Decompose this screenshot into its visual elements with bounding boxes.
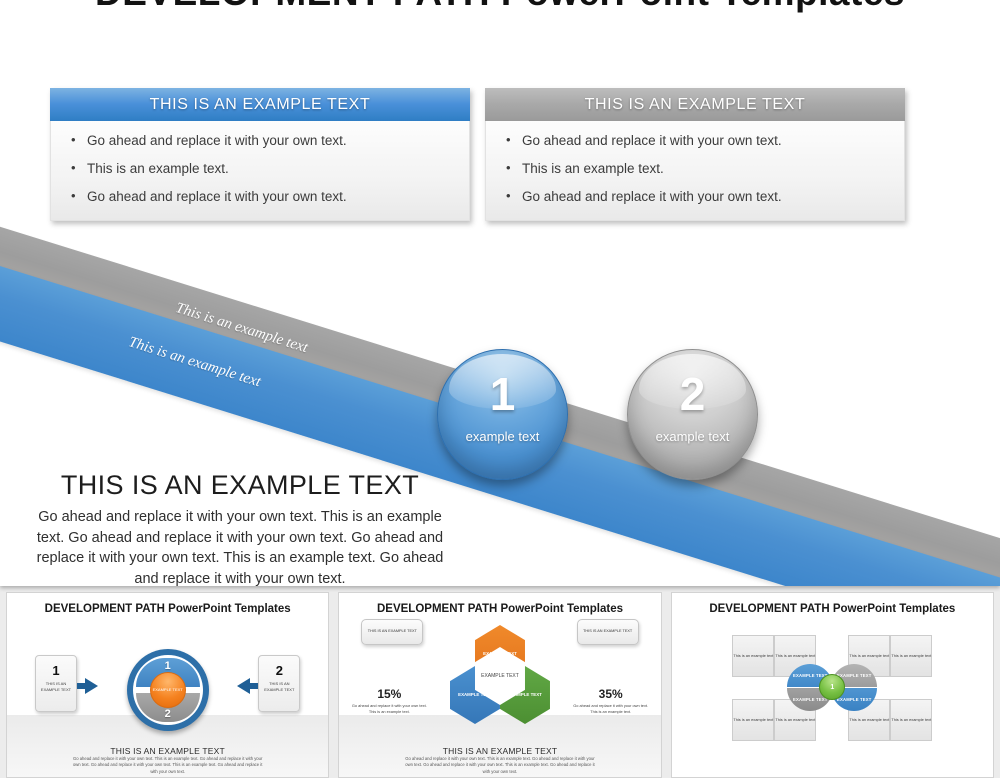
- thumbnail-3-box-4[interactable]: This is an example text: [890, 635, 932, 677]
- step-sphere-1-number: 1: [437, 367, 568, 421]
- step-sphere-1[interactable]: 1 example text: [437, 349, 568, 480]
- thumbnail-3-box-8[interactable]: This is an example text: [890, 699, 932, 741]
- step-sphere-2-number: 2: [627, 367, 758, 421]
- thumbnail-1-footer: THIS IS AN EXAMPLE TEXT Go ahead and rep…: [7, 746, 328, 775]
- percent-value: 35%: [573, 687, 649, 701]
- thumbnail-strip: DEVELOPMENT PATH PowerPoint Templates 1 …: [0, 592, 1000, 778]
- page-title: DEVELOPMENT PATH PowerPoint Templates: [0, 0, 1000, 14]
- thumbnail-2-title: DEVELOPMENT PATH PowerPoint Templates: [339, 603, 660, 615]
- thumbnail-slide-2[interactable]: DEVELOPMENT PATH PowerPoint Templates TH…: [338, 592, 661, 778]
- thumbnail-1-side-box-2-text: THIS IS AN EXAMPLE TEXT: [259, 681, 299, 693]
- thumbnail-2-callout-right[interactable]: THIS IS AN EXAMPLE TEXT: [577, 619, 639, 645]
- list-item: Go ahead and replace it with your own te…: [87, 189, 451, 206]
- thumbnail-3-title: DEVELOPMENT PATH PowerPoint Templates: [672, 603, 993, 615]
- thumbnail-2-hexagon-diagram[interactable]: EXAMPLE TEXT EXAMPLE TEXT EXAMPLE TEXT E…: [425, 623, 575, 733]
- list-item: Go ahead and replace it with your own te…: [522, 189, 886, 206]
- thumbnail-slide-3[interactable]: DEVELOPMENT PATH PowerPoint Templates Th…: [671, 592, 994, 778]
- example-text-box-right-header: THIS IS AN EXAMPLE TEXT: [485, 88, 905, 121]
- main-slide-preview[interactable]: DEVELOPMENT PATH PowerPoint Templates Th…: [0, 0, 1000, 586]
- thumbnail-2-footer-title: THIS IS AN EXAMPLE TEXT: [339, 746, 660, 756]
- thumbnail-2-percent-left: 15% Go ahead and replace it with your ow…: [351, 687, 427, 715]
- wheel-core-label: EXAMPLE TEXT: [150, 672, 186, 708]
- percent-description: Go ahead and replace it with your own te…: [573, 703, 649, 715]
- thumbnail-3-box-5[interactable]: This is an example text: [732, 699, 774, 741]
- step-sphere-2[interactable]: 2 example text: [627, 349, 758, 480]
- example-text-box-right-body: Go ahead and replace it with your own te…: [485, 121, 905, 221]
- thumbnail-2-footer: THIS IS AN EXAMPLE TEXT Go ahead and rep…: [339, 746, 660, 775]
- arrow-right-icon: [85, 678, 98, 694]
- thumbnail-1-footer-title: THIS IS AN EXAMPLE TEXT: [7, 746, 328, 756]
- list-item: This is an example text.: [87, 161, 451, 189]
- thumbnail-1-side-box-2[interactable]: 2 THIS IS AN EXAMPLE TEXT: [258, 655, 300, 712]
- step-sphere-1-caption: example text: [437, 429, 568, 444]
- thumbnail-1-side-box-1-number: 1: [36, 663, 76, 678]
- example-text-box-left-header: THIS IS AN EXAMPLE TEXT: [50, 88, 470, 121]
- list-item: Go ahead and replace it with your own te…: [87, 133, 451, 161]
- thumbnail-2-footer-body: Go ahead and replace it with your own te…: [339, 756, 660, 775]
- arrow-left-icon: [249, 683, 258, 689]
- thumbnail-3-box-1[interactable]: This is an example text: [732, 635, 774, 677]
- arrow-left-icon: [237, 678, 250, 694]
- list-item: Go ahead and replace it with your own te…: [522, 133, 886, 161]
- percent-value: 15%: [351, 687, 427, 701]
- thumbnail-2-percent-right: 35% Go ahead and replace it with your ow…: [573, 687, 649, 715]
- thumbnail-1-footer-body: Go ahead and replace it with your own te…: [7, 756, 328, 775]
- thumbnail-1-side-box-1[interactable]: 1 THIS IS AN EXAMPLE TEXT: [35, 655, 77, 712]
- thumbnail-2-callout-left[interactable]: THIS IS AN EXAMPLE TEXT: [361, 619, 423, 645]
- quadrant-core-badge: 1: [819, 674, 845, 700]
- slide-caption-body: Go ahead and replace it with your own te…: [30, 507, 450, 586]
- thumbnail-3-quadrant-diagram[interactable]: This is an example text This is an examp…: [732, 635, 932, 739]
- example-text-box-right[interactable]: THIS IS AN EXAMPLE TEXT Go ahead and rep…: [485, 88, 905, 221]
- thumbnail-1-side-box-2-number: 2: [259, 663, 299, 678]
- thumbnail-1-wheel-diagram[interactable]: 1 2 EXAMPLE TEXT: [127, 649, 209, 731]
- list-item: This is an example text.: [522, 161, 886, 189]
- diagonal-band-blue-label: This is an example text: [126, 334, 262, 391]
- thumbnail-1-title: DEVELOPMENT PATH PowerPoint Templates: [7, 603, 328, 615]
- slide-caption-block: THIS IS AN EXAMPLE TEXT Go ahead and rep…: [30, 470, 450, 586]
- step-sphere-2-caption: example text: [627, 429, 758, 444]
- slide-caption-title: THIS IS AN EXAMPLE TEXT: [30, 470, 450, 501]
- thumbnail-slide-1[interactable]: DEVELOPMENT PATH PowerPoint Templates 1 …: [6, 592, 329, 778]
- example-text-box-left[interactable]: THIS IS AN EXAMPLE TEXT Go ahead and rep…: [50, 88, 470, 221]
- wheel-segment-bottom-number: 2: [127, 708, 209, 720]
- example-text-box-left-body: Go ahead and replace it with your own te…: [50, 121, 470, 221]
- percent-description: Go ahead and replace it with your own te…: [351, 703, 427, 715]
- thumbnail-1-side-box-1-text: THIS IS AN EXAMPLE TEXT: [36, 681, 76, 693]
- wheel-segment-top-number: 1: [127, 660, 209, 672]
